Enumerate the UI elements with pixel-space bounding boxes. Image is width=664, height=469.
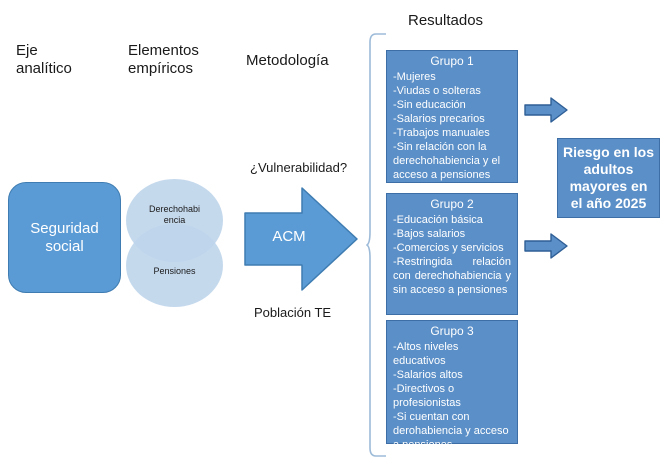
group-2-title: Grupo 2: [393, 197, 511, 212]
group-3-items: -Altos niveles educativos -Salarios alto…: [393, 340, 511, 452]
label-vulnerabilidad: ¿Vulnerabilidad?: [250, 160, 385, 175]
result-group-box-2: Grupo 2 -Educación básica -Bajos salario…: [386, 193, 518, 315]
column-header-elementos-empiricos: Elementos empíricos: [128, 42, 233, 78]
connector-right-arrow-icon-2: [524, 232, 568, 260]
venn-label-pensiones: Pensiones: [126, 266, 223, 277]
group-1-title: Grupo 1: [393, 54, 511, 69]
column-header-eje-analitico: Eje analítico: [16, 42, 111, 78]
column-header-resultados: Resultados: [408, 12, 548, 30]
venn-label-derechohabiencia: Derechohabi encia: [126, 204, 223, 226]
label-poblacion-te: Población TE: [254, 305, 374, 320]
acm-block-arrow-icon: [244, 186, 358, 292]
conclusion-box-riesgo: Riesgo en los adultos mayores en el año …: [557, 138, 660, 218]
diagram-canvas: Eje analítico Elementos empíricos Metodo…: [0, 0, 664, 469]
venn-diagram: Derechohabi encia Pensiones: [126, 179, 223, 307]
result-group-box-1: Grupo 1 -Mujeres -Viudas o solteras -Sin…: [386, 50, 518, 183]
group-3-title: Grupo 3: [393, 324, 511, 339]
group-1-items: -Mujeres -Viudas o solteras -Sin educaci…: [393, 70, 511, 182]
seguridad-social-box: Seguridad social: [8, 182, 121, 293]
connector-right-arrow-icon-1: [524, 96, 568, 124]
column-header-metodologia: Metodología: [246, 52, 371, 70]
group-2-items: -Educación básica -Bajos salarios -Comer…: [393, 213, 511, 297]
result-group-box-3: Grupo 3 -Altos niveles educativos -Salar…: [386, 320, 518, 444]
left-curly-brace-icon: [366, 32, 388, 458]
